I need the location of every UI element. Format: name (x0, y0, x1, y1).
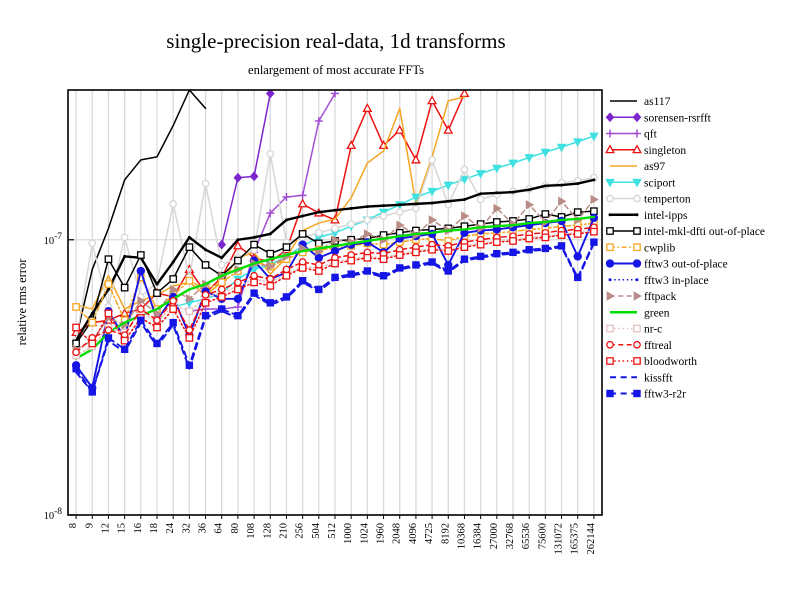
data-point (299, 265, 305, 271)
x-tick-label: 1960 (376, 523, 387, 544)
data-point (542, 234, 548, 240)
x-tick-label: 36 (198, 523, 209, 534)
data-point (251, 279, 257, 285)
data-point (591, 228, 597, 234)
x-tick-label: 262144 (586, 522, 597, 554)
data-point (219, 286, 225, 292)
legend-marker (607, 244, 613, 250)
data-point (170, 306, 176, 312)
legend-label: intel-ipps (644, 210, 688, 222)
data-point (138, 252, 144, 258)
data-point (89, 389, 95, 395)
data-point (477, 241, 483, 247)
data-point (445, 248, 451, 254)
legend-label: temperton (644, 194, 691, 206)
legend-marker (607, 358, 613, 364)
data-point (267, 283, 273, 289)
data-point (413, 262, 419, 268)
data-point (479, 192, 482, 195)
data-point (380, 256, 386, 262)
data-point (156, 283, 159, 286)
data-point (202, 180, 208, 186)
data-point (463, 231, 466, 234)
data-point (447, 263, 450, 266)
data-point (89, 240, 95, 246)
data-point (236, 238, 239, 241)
data-point (544, 184, 547, 187)
legend-marker (636, 278, 639, 281)
data-point (301, 214, 304, 217)
legend-label: nr-c (644, 324, 662, 336)
x-tick-label: 210 (278, 523, 289, 539)
legend-label: sorensen-rsrfft (644, 112, 712, 124)
data-point (267, 300, 273, 306)
data-point (251, 290, 257, 296)
data-point (364, 268, 370, 274)
legend-marker (634, 325, 640, 331)
x-tick-label: 75600 (537, 523, 548, 549)
data-point (138, 317, 144, 323)
legend-marker (634, 228, 640, 234)
data-point (380, 213, 386, 219)
legend-label: as97 (644, 161, 665, 173)
legend-marker (607, 325, 613, 331)
data-point (154, 290, 160, 296)
data-point (431, 202, 434, 205)
data-point (332, 260, 338, 266)
data-point (429, 247, 435, 253)
data-point (350, 207, 353, 210)
data-point (316, 240, 322, 246)
data-point (461, 256, 467, 262)
x-tick-label: 8 (68, 523, 79, 528)
data-point (334, 209, 337, 212)
data-point (348, 257, 354, 263)
x-tick-label: 64 (214, 522, 225, 533)
data-point (510, 249, 516, 255)
data-point (283, 294, 289, 300)
data-point (89, 319, 95, 325)
data-point (575, 274, 581, 280)
data-point (477, 253, 483, 259)
data-point (334, 250, 337, 253)
data-point (123, 255, 126, 258)
data-point (299, 231, 305, 237)
data-point (494, 219, 500, 225)
data-point (154, 340, 160, 346)
data-point (463, 198, 466, 201)
x-tick-label: 128 (262, 523, 273, 539)
data-point (105, 281, 111, 287)
x-tick-label: 256 (295, 523, 306, 539)
data-point (429, 157, 435, 163)
data-point (461, 244, 467, 250)
legend-marker (633, 260, 640, 267)
data-point (267, 250, 273, 256)
legend-marker (636, 213, 639, 216)
x-tick-label: 10368 (456, 523, 467, 549)
data-point (267, 276, 273, 282)
data-point (558, 232, 564, 238)
x-tick-label: 12 (100, 523, 111, 534)
data-point (285, 218, 288, 221)
data-point (202, 300, 208, 306)
x-tick-label: 32768 (505, 523, 516, 549)
data-point (172, 261, 175, 264)
data-point (186, 277, 192, 283)
legend-marker (634, 195, 640, 201)
data-point (236, 297, 239, 300)
data-point (283, 244, 289, 250)
x-tick-label: 24 (165, 522, 176, 533)
data-point (397, 252, 403, 258)
legend-marker (606, 260, 613, 267)
data-point (397, 209, 403, 215)
data-point (186, 335, 192, 341)
data-point (219, 262, 225, 268)
data-point (398, 203, 401, 206)
legend-label: intel-mkl-dfti out-of-place (644, 226, 765, 238)
data-point (348, 221, 354, 227)
x-tick-label: 1000 (343, 523, 354, 544)
legend-label: as117 (644, 96, 671, 108)
legend-marker (607, 228, 613, 234)
data-point (253, 236, 256, 239)
data-point (269, 232, 272, 235)
data-point (526, 247, 532, 253)
data-point (121, 284, 127, 290)
figure-background (0, 0, 792, 612)
data-point (170, 276, 176, 282)
data-point (202, 262, 208, 268)
y-axis-label: relative rms error (15, 258, 29, 346)
data-point (591, 208, 597, 214)
data-point (235, 257, 241, 263)
legend-label: fftw3-r2r (644, 389, 686, 401)
x-tick-label: 32 (181, 523, 192, 534)
data-point (317, 211, 320, 214)
x-tick-label: 1024 (359, 522, 370, 544)
data-point (283, 273, 289, 279)
data-point (429, 259, 435, 265)
data-point (219, 279, 225, 285)
x-tick-label: 4725 (424, 523, 435, 544)
data-point (219, 306, 225, 312)
data-point (105, 256, 111, 262)
fft-accuracy-chart: single-precision real-data, 1d transform… (0, 0, 792, 612)
data-point (170, 298, 176, 304)
data-point (316, 268, 322, 274)
data-point (575, 231, 581, 237)
x-tick-label: 15 (117, 523, 128, 534)
data-point (235, 286, 241, 292)
legend-marker (609, 213, 612, 216)
data-point (220, 256, 223, 259)
x-tick-label: 2048 (392, 523, 403, 544)
legend-marker (607, 195, 613, 201)
data-point (89, 340, 95, 346)
data-point (219, 294, 225, 300)
data-point (332, 225, 338, 231)
x-tick-label: 9 (84, 523, 95, 528)
data-point (283, 266, 289, 272)
data-point (510, 238, 516, 244)
data-point (591, 239, 597, 245)
data-point (105, 310, 111, 316)
data-point (575, 209, 581, 215)
data-point (576, 255, 579, 258)
data-point (447, 200, 450, 203)
data-point (154, 324, 160, 330)
data-point (317, 256, 320, 259)
data-point (592, 178, 595, 181)
legend-label: kissfft (644, 372, 673, 384)
data-point (188, 236, 191, 239)
legend-marker (607, 390, 613, 396)
data-point (542, 211, 548, 217)
data-point (413, 205, 419, 211)
data-point (445, 268, 451, 274)
legend-marker (634, 342, 640, 348)
data-point (202, 292, 208, 298)
data-point (170, 319, 176, 325)
data-point (512, 191, 515, 194)
data-point (494, 250, 500, 256)
data-point (495, 191, 498, 194)
data-point (366, 205, 369, 208)
data-point (105, 327, 111, 333)
data-point (414, 202, 417, 205)
data-point (316, 286, 322, 292)
legend-label: fftw3 out-of-place (644, 259, 728, 271)
data-point (267, 151, 273, 157)
legend-marker (634, 358, 640, 364)
data-point (576, 182, 579, 185)
x-tick-label: 27000 (489, 523, 500, 549)
data-point (364, 217, 370, 223)
data-point (348, 271, 354, 277)
legend-label: sciport (644, 177, 676, 189)
data-point (202, 312, 208, 318)
x-tick-label: 512 (327, 523, 338, 539)
data-point (332, 274, 338, 280)
data-point (558, 243, 564, 249)
data-point (251, 273, 257, 279)
data-point (121, 234, 127, 240)
data-point (316, 230, 322, 236)
x-tick-label: 504 (311, 522, 322, 539)
data-point (461, 166, 467, 172)
data-point (105, 335, 111, 341)
chart-subtitle: enlargement of most accurate FFTs (248, 63, 424, 77)
data-point (364, 255, 370, 261)
data-point (495, 228, 498, 231)
data-point (204, 248, 207, 251)
data-point (121, 337, 127, 343)
data-point (121, 346, 127, 352)
data-point (186, 244, 192, 250)
legend-label: green (644, 307, 670, 319)
data-point (251, 241, 257, 247)
legend-label: bloodworth (644, 356, 697, 368)
data-point (73, 324, 79, 330)
data-point (154, 317, 160, 323)
legend-label: fftreal (644, 340, 672, 352)
x-tick-label: 4096 (408, 523, 419, 544)
chart-title: single-precision real-data, 1d transform… (166, 29, 505, 53)
x-tick-label: 131072 (554, 523, 565, 555)
legend-marker (634, 390, 640, 396)
data-point (542, 245, 548, 251)
data-point (397, 265, 403, 271)
data-point (186, 308, 192, 314)
data-point (413, 249, 419, 255)
data-point (494, 239, 500, 245)
x-tick-label: 165375 (570, 523, 581, 555)
chart-page: single-precision real-data, 1d transform… (0, 0, 792, 612)
x-tick-label: 16 (133, 523, 144, 534)
data-point (138, 306, 144, 312)
legend-label: singleton (644, 145, 686, 157)
data-point (299, 277, 305, 283)
x-tick-label: 8192 (440, 523, 451, 544)
data-point (477, 196, 483, 202)
legend-marker (634, 244, 640, 250)
data-point (186, 362, 192, 368)
data-point (73, 304, 79, 310)
data-point (235, 312, 241, 318)
data-point (170, 201, 176, 207)
data-point (382, 204, 385, 207)
legend-marker (609, 278, 612, 281)
legend-label: fftw3 in-place (644, 275, 709, 287)
x-tick-label: 65536 (521, 523, 532, 549)
legend-label: cwplib (644, 242, 676, 254)
x-tick-label: 18 (149, 523, 160, 534)
data-point (73, 366, 79, 372)
data-point (560, 184, 563, 187)
data-point (139, 270, 142, 273)
data-point (380, 273, 386, 279)
data-point (528, 188, 531, 191)
data-point (526, 235, 532, 241)
legend-label: fftpack (644, 291, 677, 303)
data-point (73, 349, 79, 355)
data-point (235, 279, 241, 285)
x-tick-label: 80 (230, 523, 241, 534)
x-tick-label: 16384 (473, 522, 484, 549)
legend-label: qft (644, 129, 658, 141)
x-tick-label: 108 (246, 523, 257, 539)
legend-marker (607, 342, 613, 348)
